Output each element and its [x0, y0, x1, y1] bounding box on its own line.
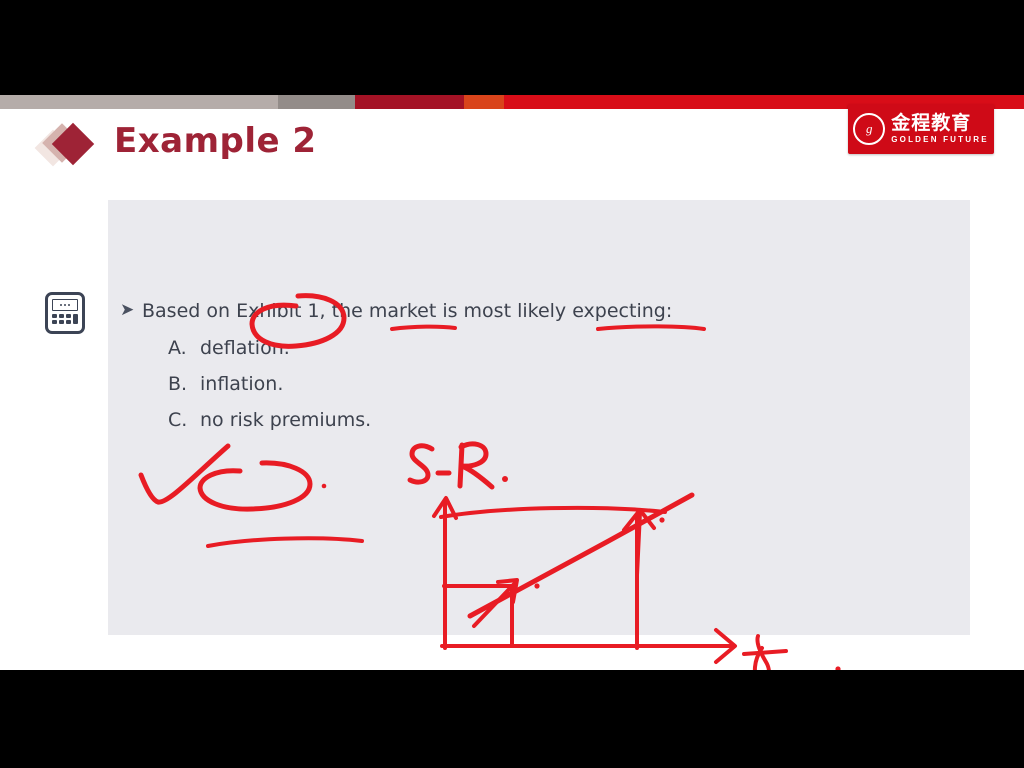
option-c-text: no risk premiums.: [200, 409, 371, 431]
letterbox-bottom: [0, 670, 1024, 768]
calculator-icon: [45, 292, 85, 334]
question-text: Based on Exhibit 1, the market is most l…: [142, 300, 672, 323]
brand-logo: g 金程教育 GOLDEN FUTURE: [848, 104, 994, 154]
option-b: B. inflation.: [168, 373, 740, 395]
calculator-keys: [52, 314, 78, 324]
strip-seg-4: [464, 95, 504, 109]
option-c-letter: C.: [168, 409, 200, 431]
question-line: ➤ Based on Exhibit 1, the market is most…: [120, 300, 740, 323]
letterbox-top: [0, 0, 1024, 95]
bullet-arrow-icon: ➤: [120, 300, 142, 320]
brand-name-en: GOLDEN FUTURE: [891, 136, 989, 144]
option-c: C. no risk premiums.: [168, 409, 740, 431]
option-a: A. deflation.: [168, 337, 740, 359]
option-b-letter: B.: [168, 373, 200, 395]
strip-seg-2: [278, 95, 355, 109]
strip-seg-1: [0, 95, 278, 109]
slide-video-area[interactable]: g 金程教育 GOLDEN FUTURE Example 2 ➤: [0, 95, 1024, 670]
t-axis-label: [744, 636, 786, 670]
player-stage: g 金程教育 GOLDEN FUTURE Example 2 ➤: [0, 0, 1024, 768]
option-a-text: deflation.: [200, 337, 290, 359]
option-b-text: inflation.: [200, 373, 283, 395]
page-title: Example 2: [114, 121, 317, 161]
brand-seal-icon: g: [853, 113, 885, 145]
slide-title-row: Example 2: [40, 121, 317, 161]
calculator-screen: [52, 299, 78, 311]
strip-seg-3: [355, 95, 464, 109]
brand-name-cn: 金程教育: [891, 114, 971, 133]
question-block: ➤ Based on Exhibit 1, the market is most…: [120, 300, 740, 431]
option-a-letter: A.: [168, 337, 200, 359]
